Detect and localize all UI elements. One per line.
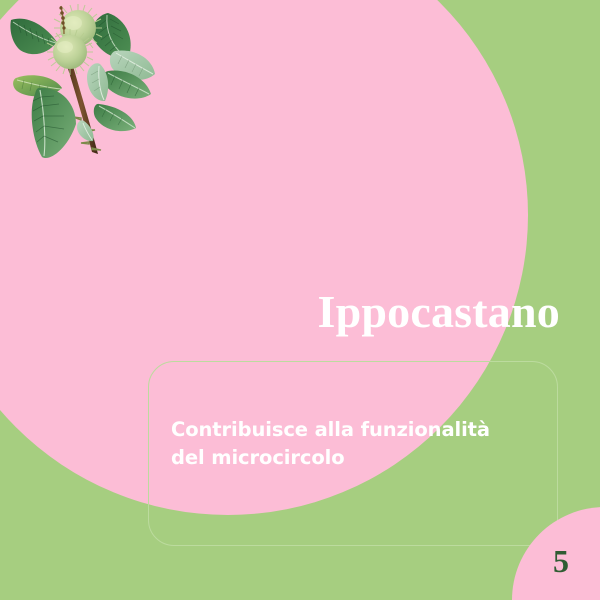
benefit-description: Contribuisce alla funzionalità del micro…: [171, 416, 531, 472]
leaf-lower-right: [94, 104, 136, 131]
plant-info-card: Ippocastano Contribuisce alla funzionali…: [0, 0, 600, 600]
horse-chestnut-branch-illustration: [2, 2, 192, 202]
leaf-small-center: [77, 120, 94, 141]
leaf-lower-left: [32, 88, 76, 158]
benefit-description-line-2: del microcircolo: [171, 444, 531, 472]
page-number: 5: [543, 537, 579, 585]
benefit-description-line-1: Contribuisce alla funzionalità: [171, 416, 531, 444]
page-title: Ippocastano: [318, 288, 561, 336]
leaf-upper-left: [10, 19, 57, 55]
leaf-center-pale: [87, 63, 108, 101]
